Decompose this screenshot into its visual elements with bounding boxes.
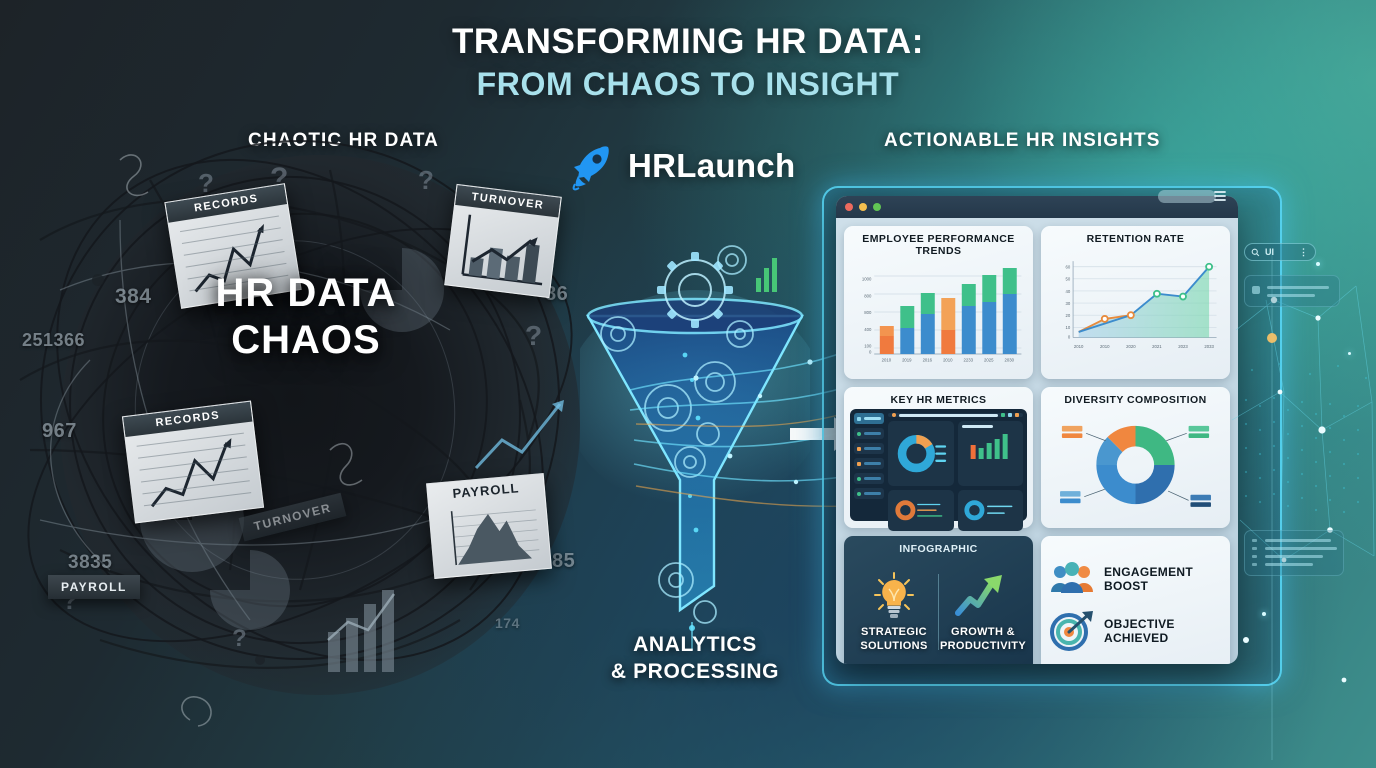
donut-chart bbox=[962, 494, 1019, 526]
svg-text:2025: 2025 bbox=[984, 358, 994, 363]
question-mark-icon: ? bbox=[418, 165, 434, 196]
panel-employee-performance-trends[interactable]: EMPLOYEE PERFORMANCE TRENDS bbox=[844, 226, 1033, 379]
ui-badge-label: UI bbox=[1265, 247, 1274, 257]
panel-title: EMPLOYEE PERFORMANCE TRENDS bbox=[850, 233, 1027, 257]
svg-text:100: 100 bbox=[864, 344, 872, 349]
svg-text:30: 30 bbox=[1066, 301, 1071, 306]
spark-dot bbox=[1262, 612, 1266, 616]
ghost-card[interactable] bbox=[1244, 275, 1340, 307]
svg-text:2019: 2019 bbox=[902, 358, 912, 363]
svg-text:2010: 2010 bbox=[1100, 344, 1110, 349]
bar-chart-axis-labels: 1000800 800400 1000 20102019 20162010 22… bbox=[850, 260, 1027, 372]
infographic-item-label: GROWTH & PRODUCTIVITY bbox=[940, 626, 1026, 654]
growth-arrow-icon bbox=[954, 571, 1012, 621]
analytics-caption-line-2: & PROCESSING bbox=[611, 660, 779, 683]
chaos-number: 3835 bbox=[68, 552, 112, 574]
panel-outcomes[interactable]: ENGAGEMENT BOOST OBJECT bbox=[1041, 536, 1230, 664]
svg-text:2033: 2033 bbox=[1204, 344, 1214, 349]
mock-widget-row bbox=[888, 490, 1023, 530]
label-line-2: BOOST bbox=[1104, 579, 1148, 593]
mock-metric-widget[interactable] bbox=[958, 490, 1023, 530]
panel-title: INFOGRAPHIC bbox=[850, 543, 1027, 555]
donut-chart bbox=[892, 494, 949, 526]
window-close-dot[interactable] bbox=[845, 203, 853, 211]
donut-chart bbox=[892, 425, 949, 482]
infographic-item-label: STRATEGIC SOLUTIONS bbox=[860, 626, 927, 654]
outcome-items: ENGAGEMENT BOOST OBJECT bbox=[1047, 543, 1224, 664]
svg-text:20: 20 bbox=[1066, 313, 1071, 318]
chaos-number: 174 bbox=[495, 615, 520, 631]
people-group-icon bbox=[1049, 560, 1095, 598]
svg-text:0: 0 bbox=[869, 349, 872, 354]
label-line-1: GROWTH & bbox=[951, 626, 1015, 638]
panel-title: DIVERSITY COMPOSITION bbox=[1047, 394, 1224, 406]
kebab-menu-icon[interactable]: ⋮ bbox=[1299, 247, 1309, 258]
svg-text:10: 10 bbox=[1066, 325, 1071, 330]
panel-diversity-composition[interactable]: DIVERSITY COMPOSITION bbox=[1041, 387, 1230, 528]
mock-content bbox=[888, 413, 1023, 517]
section-heading-right: ACTIONABLE HR INSIGHTS bbox=[884, 130, 1160, 152]
line-chart-svg: 6050 4030 2010 0 20102010 20202021 20232… bbox=[1047, 248, 1224, 360]
search-icon bbox=[1251, 248, 1260, 257]
mock-nav-item[interactable] bbox=[854, 473, 884, 484]
mock-sidebar bbox=[854, 413, 884, 517]
network-visual: UI ⋮ bbox=[1226, 0, 1376, 768]
svg-text:400: 400 bbox=[864, 327, 872, 332]
svg-text:2010: 2010 bbox=[943, 358, 953, 363]
outcome-item-objective-achieved: OBJECTIVE ACHIEVED bbox=[1049, 610, 1222, 652]
title-line-2: FROM CHAOS TO INSIGHT bbox=[0, 66, 1376, 103]
document-card: RECORDS bbox=[122, 400, 264, 523]
spark-dot bbox=[1316, 262, 1320, 266]
mock-nav-item[interactable] bbox=[854, 488, 884, 499]
svg-text:2233: 2233 bbox=[964, 358, 974, 363]
window-maximize-dot[interactable] bbox=[873, 203, 881, 211]
data-flow-streams bbox=[600, 300, 860, 560]
panel-title: RETENTION RATE bbox=[1047, 233, 1224, 245]
label-line-2: PRODUCTIVITY bbox=[940, 640, 1026, 652]
bar-chart bbox=[962, 431, 1019, 459]
svg-text:2021: 2021 bbox=[1152, 344, 1162, 349]
document-card: PAYROLL bbox=[426, 473, 552, 579]
question-mark-icon: ? bbox=[525, 320, 542, 352]
bar-chart-glyph bbox=[318, 570, 418, 680]
panel-infographic[interactable]: INFOGRAPHIC bbox=[844, 536, 1033, 664]
infographic-item-strategic-solutions: STRATEGIC SOLUTIONS bbox=[850, 571, 938, 654]
trend-arrow-glyph bbox=[468, 390, 578, 480]
panel-title: KEY HR METRICS bbox=[850, 394, 1027, 406]
svg-text:800: 800 bbox=[864, 310, 872, 315]
window-minimize-dot[interactable] bbox=[859, 203, 867, 211]
dashboard-search-bar[interactable] bbox=[1158, 190, 1216, 203]
label-line-1: OBJECTIVE bbox=[1104, 617, 1175, 631]
ui-badge[interactable]: UI ⋮ bbox=[1244, 243, 1316, 261]
analytics-caption-line-1: ANALYTICS bbox=[633, 633, 757, 656]
line-chart: 6050 4030 2010 0 20102010 20202021 20232… bbox=[1047, 248, 1224, 360]
mock-donut-widget[interactable] bbox=[888, 421, 953, 486]
label-line-1: STRATEGIC bbox=[861, 626, 927, 638]
chaos-core-line-2: CHAOS bbox=[231, 318, 380, 362]
chaos-tag: PAYROLL bbox=[48, 575, 140, 599]
chaos-cluster: 384 251366 967 3835 86 85 174 ? ? ? ? ? … bbox=[0, 120, 620, 760]
mock-widget-row bbox=[888, 421, 1023, 486]
mock-bar-widget[interactable] bbox=[958, 421, 1023, 486]
svg-text:0: 0 bbox=[1068, 334, 1071, 339]
mock-topbar bbox=[888, 413, 1023, 417]
chaos-number: 85 bbox=[552, 550, 575, 573]
svg-text:60: 60 bbox=[1066, 265, 1071, 270]
svg-text:2020: 2020 bbox=[1126, 344, 1136, 349]
infographic-canvas: TRANSFORMING HR DATA: FROM CHAOS TO INSI… bbox=[0, 0, 1376, 768]
question-mark-icon: ? bbox=[232, 625, 247, 653]
panel-key-hr-metrics[interactable]: KEY HR METRICS bbox=[844, 387, 1033, 528]
svg-text:2030: 2030 bbox=[1005, 358, 1015, 363]
dashboard-panel-grid: EMPLOYEE PERFORMANCE TRENDS bbox=[836, 218, 1238, 664]
line-chart bbox=[125, 421, 262, 520]
title-line-1: TRANSFORMING HR DATA: bbox=[0, 22, 1376, 62]
mock-nav-item[interactable] bbox=[854, 413, 884, 424]
ghost-card[interactable] bbox=[1244, 530, 1344, 576]
svg-text:2010: 2010 bbox=[882, 358, 892, 363]
outcome-item-engagement-boost: ENGAGEMENT BOOST bbox=[1049, 560, 1222, 598]
page-title: TRANSFORMING HR DATA: FROM CHAOS TO INSI… bbox=[0, 22, 1376, 103]
dashboard-window: EMPLOYEE PERFORMANCE TRENDS bbox=[836, 196, 1238, 664]
target-icon bbox=[1049, 610, 1095, 652]
mock-nav-item[interactable] bbox=[854, 443, 884, 454]
chaos-number: 251366 bbox=[22, 330, 85, 351]
mock-gauge-widget[interactable] bbox=[888, 490, 953, 530]
outcome-item-label: OBJECTIVE ACHIEVED bbox=[1104, 617, 1175, 646]
svg-text:1000: 1000 bbox=[862, 277, 872, 282]
pie-chart bbox=[1047, 409, 1224, 521]
svg-text:2023: 2023 bbox=[1178, 344, 1188, 349]
label-line-2: ACHIEVED bbox=[1104, 631, 1168, 645]
area-chart bbox=[429, 497, 551, 579]
panel-retention-rate[interactable]: RETENTION RATE bbox=[1041, 226, 1230, 379]
svg-text:40: 40 bbox=[1066, 289, 1071, 294]
network-mesh bbox=[1226, 0, 1376, 768]
chaos-core-label: HR DATA CHAOS bbox=[96, 270, 516, 364]
chaos-number: 967 bbox=[42, 420, 77, 443]
lightbulb-icon bbox=[872, 571, 916, 621]
donut-chart-svg bbox=[1047, 409, 1224, 521]
infographic-items: STRATEGIC SOLUTIONS bbox=[850, 558, 1027, 664]
svg-text:50: 50 bbox=[1066, 277, 1071, 282]
mock-nav-item[interactable] bbox=[854, 458, 884, 469]
svg-text:2016: 2016 bbox=[923, 358, 933, 363]
svg-text:800: 800 bbox=[864, 293, 872, 298]
svg-text:2010: 2010 bbox=[1074, 344, 1084, 349]
analytics-caption: ANALYTICS & PROCESSING bbox=[560, 632, 830, 686]
outcome-item-label: ENGAGEMENT BOOST bbox=[1104, 565, 1193, 594]
brand-name: HRLaunch bbox=[628, 147, 795, 185]
chaos-core-line-1: HR DATA bbox=[215, 271, 396, 315]
label-line-2: SOLUTIONS bbox=[860, 640, 927, 652]
bar-chart: 1000800 800400 1000 20102019 20162010 22… bbox=[850, 260, 1027, 372]
spark-dot bbox=[1348, 352, 1351, 355]
label-line-1: ENGAGEMENT bbox=[1104, 565, 1193, 579]
infographic-item-growth-productivity: GROWTH & PRODUCTIVITY bbox=[939, 571, 1027, 654]
mock-nav-item[interactable] bbox=[854, 428, 884, 439]
dashboard-mockup bbox=[850, 409, 1027, 521]
